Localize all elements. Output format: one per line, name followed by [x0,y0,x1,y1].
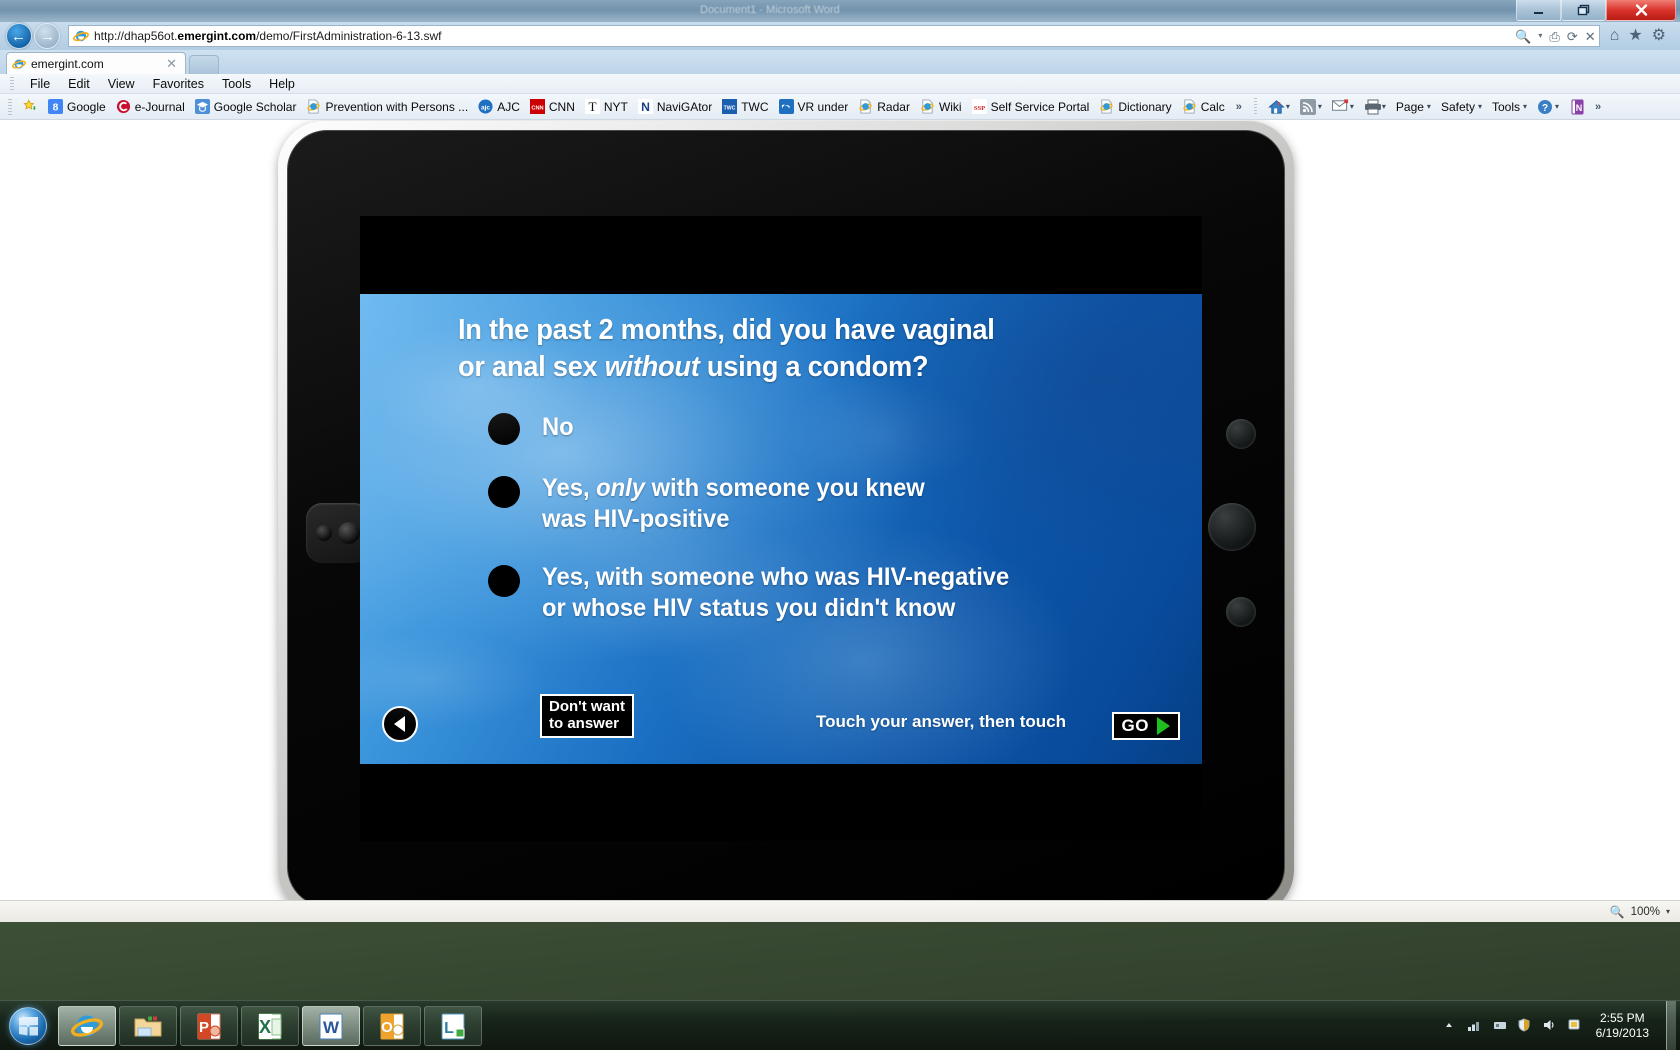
address-bar-actions: 🔍 ▾ ⎙ ⟳ ✕ [1515,26,1595,46]
lync-icon: L [437,1010,469,1042]
menu-help[interactable]: Help [260,77,304,91]
svg-text:SSP: SSP [973,105,984,112]
folder-icon [132,1010,164,1042]
zoom-icon[interactable]: 🔍 [1610,905,1625,919]
start-button[interactable] [4,1005,52,1047]
rss-feed-icon [1300,99,1315,114]
survey-back-button[interactable] [382,706,418,742]
cnn-icon: CNN [530,99,545,114]
internet-explorer-window: Document1 - Microsoft Word ← → [0,0,1680,922]
powerpoint-icon: P [193,1010,225,1042]
usb-icon[interactable] [1492,1018,1508,1034]
nyt-icon: T [585,99,600,114]
chevron-down-icon[interactable]: ▾ [1318,102,1322,111]
tab-favicon-icon [12,57,26,71]
favorites-bar: 8 Google e-Journal Google Scholar Preven… [0,94,1680,120]
ajc-icon: ajc [478,99,493,114]
search-caret-icon[interactable]: ▾ [1538,32,1542,40]
taskbar-lync[interactable]: L [424,1006,482,1046]
printer-icon [1364,99,1379,114]
command-feeds-button[interactable]: ▾ [1295,99,1327,114]
radio-button-yes-known-positive[interactable] [488,476,520,508]
svg-text:8: 8 [53,102,59,113]
dont-want-to-answer-button[interactable]: Don't want to answer [540,694,634,738]
question-text: In the past 2 months, did you have vagin… [458,312,1135,386]
chevron-down-icon[interactable]: ▾ [1286,102,1290,111]
chevron-down-icon[interactable]: ▾ [1350,102,1354,111]
ie-page-icon [306,99,321,114]
answer-option-yes-known-positive[interactable]: Yes, only with someone you knew was HIV-… [360,473,1202,534]
address-url-text: http://dhap56ot.emergint.com/demo/FirstA… [94,29,441,43]
forward-arrow-icon: → [40,29,55,44]
answer-label-no: No [542,412,574,443]
svg-text:N: N [641,100,650,114]
favorite-twc[interactable]: TWC TWC [717,99,773,114]
command-help-button[interactable]: ? ▾ [1532,99,1564,114]
zoom-level-label[interactable]: 100% [1631,906,1660,918]
taskbar-outlook[interactable]: O [363,1006,421,1046]
show-hidden-icon[interactable] [1442,1018,1458,1034]
command-overflow-icon[interactable]: » [1589,101,1607,113]
ie-page-icon [920,99,935,114]
new-tab-button[interactable] [189,55,219,74]
connector-dot-large [338,522,360,544]
command-bar-separator [1254,98,1257,116]
tab-strip: emergint.com ✕ [0,50,1680,74]
ie-favicon-icon [73,28,89,44]
safety-label: Safety [1441,100,1475,114]
windows-taskbar: P X W [0,1000,1680,1050]
background-window-title: Document1 - Microsoft Word [700,4,840,16]
outlook-icon: O [376,1010,408,1042]
system-tray: 2:55 PM 6/19/2013 [1442,1001,1680,1050]
ie-page-icon [858,99,873,114]
command-tools-menu[interactable]: Tools ▾ [1487,100,1532,114]
answer-option-yes-negative-or-unknown[interactable]: Yes, with someone who was HIV-negative o… [360,562,1202,623]
shield-icon[interactable] [1517,1018,1533,1034]
onenote-icon: N [1569,99,1584,114]
command-print-button[interactable]: ▾ [1359,99,1391,114]
ipad-device-frame: In the past 2 months, did you have vagin… [278,121,1294,900]
chevron-down-icon[interactable]: ▾ [1555,102,1559,111]
svg-text:CNN: CNN [531,105,543,111]
favorites-star-icon[interactable]: ★ [1628,28,1642,44]
svg-text:ajc: ajc [481,104,490,111]
favorite-label: Google Scholar [214,100,297,114]
favorite-dictionary[interactable]: Dictionary [1094,99,1176,114]
answer-options-list: No Yes, only with someone you knew was H… [360,412,1202,651]
menu-tools[interactable]: Tools [213,77,260,91]
mail-icon [1332,99,1347,114]
excel-icon: X [254,1010,286,1042]
favorite-label: e-Journal [135,100,185,114]
ejournal-icon [116,99,131,114]
status-bar: 🔍 100% ▾ [0,900,1680,922]
favorite-label: Prevention with Persons ... [325,100,468,114]
window-titlebar: Document1 - Microsoft Word [0,0,1680,22]
ipad-side-button-bottom[interactable] [1226,597,1256,627]
command-onenote-button[interactable]: N [1564,99,1589,114]
gear-icon[interactable]: ⚙ [1652,28,1666,44]
search-icon[interactable]: 🔍 [1515,30,1531,43]
google-icon: 8 [48,99,63,114]
address-bar-row: ← → http://dhap56ot.emergint.com/demo/Fi… [0,22,1680,50]
favorite-nyt[interactable]: T NYT [580,99,633,114]
minimize-button[interactable] [1516,0,1561,21]
menu-grip [10,77,14,91]
survey-question-slide: In the past 2 months, did you have vagin… [360,294,1202,764]
menu-edit[interactable]: Edit [59,77,99,91]
menu-view[interactable]: View [99,77,144,91]
close-button[interactable] [1606,0,1676,21]
page-viewport: In the past 2 months, did you have vagin… [0,120,1680,900]
stop-icon[interactable]: ✕ [1585,30,1596,43]
favorite-label: Radar [877,100,910,114]
favorite-label: Google [67,100,106,114]
address-input[interactable]: http://dhap56ot.emergint.com/demo/FirstA… [68,25,1600,47]
favorite-cnn[interactable]: CNN CNN [525,99,580,114]
favorite-prevention-with-persons[interactable]: Prevention with Persons ... [301,99,473,114]
restore-button[interactable] [1561,0,1606,21]
command-safety-menu[interactable]: Safety ▾ [1436,100,1487,114]
favorite-google[interactable]: 8 Google [43,99,111,114]
chevron-down-icon[interactable]: ▾ [1382,102,1386,111]
radio-button-no[interactable] [488,413,520,445]
svg-text:W: W [323,1018,340,1037]
ssp-icon: SSP [972,99,987,114]
ipad-side-button-top[interactable] [1226,419,1256,449]
zoom-caret-icon[interactable]: ▾ [1666,907,1670,916]
favorite-label: Calc [1201,100,1225,114]
flash-survey-screen: In the past 2 months, did you have vagin… [360,216,1202,841]
command-home-button[interactable]: ▾ [1263,99,1295,114]
favorite-google-scholar[interactable]: Google Scholar [190,99,302,114]
forward-button[interactable]: → [34,23,60,49]
go-button[interactable]: GO [1112,712,1180,740]
scholar-icon [195,99,210,114]
favorite-self-service-portal[interactable]: SSP Self Service Portal [967,99,1095,114]
add-favorite-star-icon [23,99,38,114]
favorite-label: NaviGAtor [657,100,712,114]
answer-option-no[interactable]: No [360,412,1202,445]
back-arrow-icon: ← [11,29,26,44]
vr-icon [779,99,794,114]
navigator-icon: N [638,99,653,114]
home-icon [1268,99,1283,114]
svg-text:P: P [199,1019,209,1036]
browser-tab[interactable]: emergint.com ✕ [6,52,186,74]
address-bar-buttons: ⌂ ★ ⚙ [1604,28,1674,44]
back-triangle-icon [394,716,405,732]
favorites-grip [8,99,12,115]
ie-page-icon [1099,99,1114,114]
page-label: Page [1396,100,1424,114]
menu-file[interactable]: File [21,77,59,91]
menu-favorites[interactable]: Favorites [144,77,213,91]
favorite-calc[interactable]: Calc [1177,99,1230,114]
svg-text:L: L [444,1020,454,1037]
menu-bar: File Edit View Favorites Tools Help [0,74,1680,94]
ie-icon [71,1010,103,1042]
compatibility-view-icon[interactable]: ⎙ [1549,30,1559,43]
taskbar-powerpoint[interactable]: P [180,1006,238,1046]
svg-text:TWC: TWC [724,105,736,111]
answer-label-yes-negative-or-unknown: Yes, with someone who was HIV-negative o… [542,562,1009,623]
chevron-down-icon[interactable]: ▾ [1427,102,1431,111]
add-to-favorites-button[interactable] [18,99,43,114]
favorite-label: Self Service Portal [991,100,1090,114]
favorite-radar[interactable]: Radar [853,99,915,114]
ipad-home-button[interactable] [1208,503,1256,551]
show-desktop-button[interactable] [1666,1001,1676,1050]
help-icon: ? [1537,99,1552,114]
ie-page-icon [1182,99,1197,114]
favorite-label: CNN [549,100,575,114]
svg-text:T: T [588,99,596,114]
clock-date: 6/19/2013 [1596,1026,1649,1040]
touch-instruction-text: Touch your answer, then touch [816,712,1066,732]
svg-text:O: O [381,1019,393,1036]
favorite-ajc[interactable]: ajc AJC [473,99,525,114]
favorite-label: NYT [604,100,628,114]
twc-icon: TWC [722,99,737,114]
svg-text:X: X [259,1017,271,1037]
windows-logo-icon [9,1007,47,1045]
favorite-navigator[interactable]: N NaviGAtor [633,99,717,114]
tab-close-icon[interactable]: ✕ [163,56,180,72]
home-icon[interactable]: ⌂ [1610,28,1620,44]
word-icon: W [315,1010,347,1042]
favorite-label: Wiki [939,100,962,114]
tools-label: Tools [1492,100,1520,114]
taskbar-excel[interactable]: X [241,1006,299,1046]
refresh-icon[interactable]: ⟳ [1567,30,1578,43]
taskbar-items: P X W [58,1006,482,1046]
favorite-wiki[interactable]: Wiki [915,99,967,114]
favorite-label: TWC [741,100,768,114]
network-icon[interactable] [1467,1018,1483,1034]
go-label: GO [1122,716,1149,736]
favorite-ejournal[interactable]: e-Journal [111,99,190,114]
answer-label-yes-known-positive: Yes, only with someone you knew was HIV-… [542,473,925,534]
command-page-menu[interactable]: Page ▾ [1391,100,1436,114]
command-mail-button[interactable]: ▾ [1327,99,1359,114]
connector-dot-small [316,525,332,541]
favorites-overflow-icon[interactable]: » [1230,101,1248,113]
favorite-label: AJC [497,100,520,114]
ipad-bezel: In the past 2 months, did you have vagin… [287,130,1285,900]
taskbar-internet-explorer[interactable] [58,1006,116,1046]
chevron-down-icon[interactable]: ▾ [1523,102,1527,111]
flag-icon[interactable] [1567,1018,1583,1034]
radio-button-yes-negative-or-unknown[interactable] [488,565,520,597]
clock-time: 2:55 PM [1600,1011,1645,1025]
taskbar-clock[interactable]: 2:55 PM 6/19/2013 [1592,1011,1657,1041]
svg-text:N: N [1576,103,1583,113]
favorite-vr-under[interactable]: VR under [774,99,854,114]
taskbar-word[interactable]: W [302,1006,360,1046]
taskbar-windows-explorer[interactable] [119,1006,177,1046]
back-button[interactable]: ← [6,23,32,49]
favorite-label: VR under [798,100,849,114]
sound-icon[interactable] [1542,1018,1558,1034]
favorite-label: Dictionary [1118,100,1171,114]
window-controls [1516,0,1676,21]
chevron-down-icon[interactable]: ▾ [1478,102,1482,111]
tab-title: emergint.com [31,57,163,71]
go-arrow-icon [1157,717,1170,735]
svg-text:?: ? [1542,103,1548,114]
